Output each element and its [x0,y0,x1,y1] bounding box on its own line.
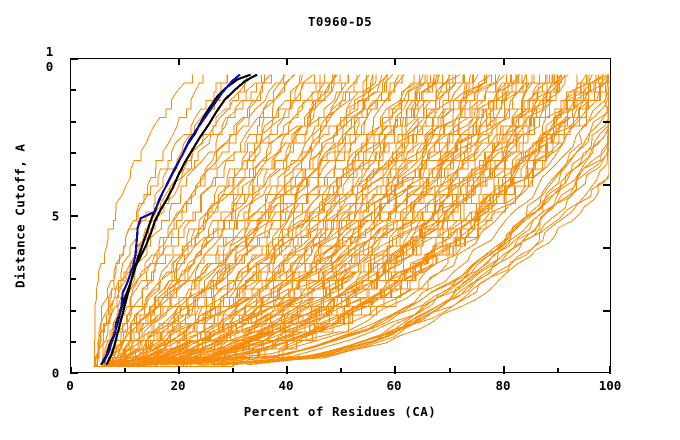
x-major-tick [178,366,180,374]
x-top-tick [178,58,180,65]
x-major-tick [394,366,396,374]
y-minor-tick [70,152,76,154]
x-tick-label: 100 [599,378,622,393]
y-major-tick [70,372,78,374]
x-minor-tick [557,368,559,373]
y-minor-tick [70,121,76,123]
y-tick-label: 0 [48,366,63,381]
x-tick-label: 40 [278,378,293,393]
y-minor-tick [70,184,76,186]
y-major-tick [70,215,78,217]
page-title: T0960-D5 [0,14,680,29]
x-major-tick [286,366,288,374]
y-right-tick [603,121,611,123]
x-major-tick [503,366,505,374]
y-minor-tick [70,247,76,249]
plot-area [70,58,611,373]
y-axis-title: Distance Cutoff, A [10,58,30,373]
y-minor-tick [70,310,76,312]
x-major-tick [609,366,611,374]
curve-canvas [71,59,609,371]
y-tick-label: 5 [48,209,63,224]
y-right-tick [603,310,611,312]
x-tick-label: 20 [170,378,185,393]
x-top-tick [394,58,396,65]
x-minor-tick [124,368,126,373]
x-minor-tick [449,368,451,373]
x-minor-tick [232,368,234,373]
y-minor-tick [70,341,76,343]
y-tick-label: 10 [42,44,57,74]
x-tick-label: 0 [66,378,74,393]
x-minor-tick [340,368,342,373]
chart-figure: T0960-D5 0 20 40 60 80 100 0 5 10 Distan… [0,0,680,440]
y-major-tick [70,58,78,60]
x-tick-label: 60 [386,378,401,393]
x-tick-label: 80 [495,378,510,393]
x-top-tick [286,58,288,65]
y-right-tick [603,184,611,186]
y-minor-tick [70,278,76,280]
x-axis-title: Percent of Residues (CA) [0,404,680,419]
y-right-tick [603,247,611,249]
x-top-tick [503,58,505,65]
y-minor-tick [70,89,76,91]
